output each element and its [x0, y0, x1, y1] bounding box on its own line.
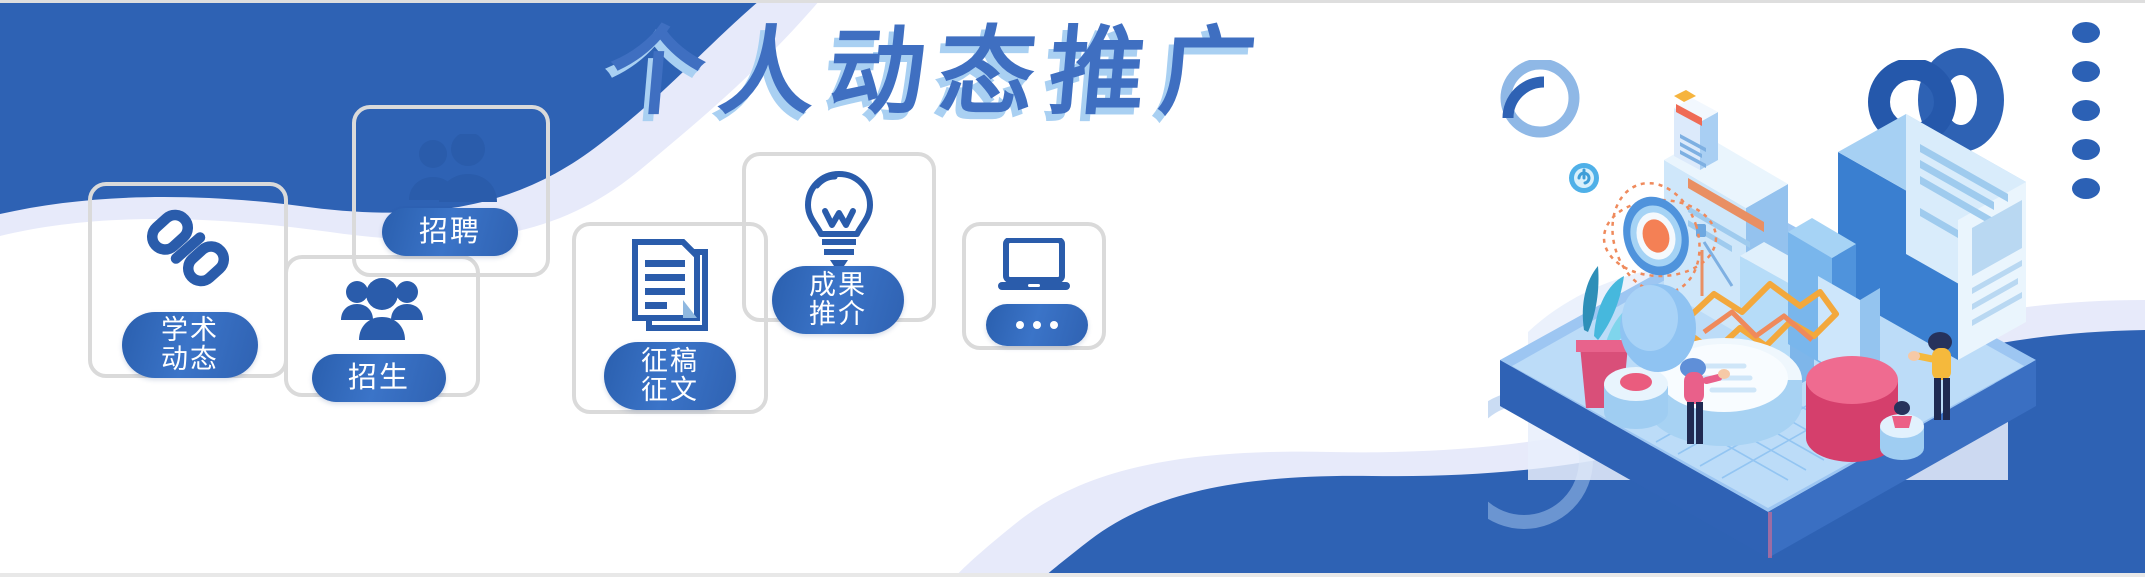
link-icon [88, 200, 288, 296]
two-users-icon [352, 134, 550, 206]
user-group-icon [284, 272, 480, 344]
pill-results-line2: 推介 [809, 300, 867, 329]
pill-more[interactable] [986, 304, 1088, 346]
pill-cfp[interactable]: 征稿 征文 [604, 342, 736, 410]
pill-recruit[interactable]: 招聘 [382, 208, 518, 256]
ellipsis-icon [1016, 321, 1058, 329]
dot-column [2072, 22, 2100, 217]
dot [2072, 100, 2100, 121]
pill-academic[interactable]: 学术 动态 [122, 312, 258, 378]
pill-academic-line2: 动态 [161, 345, 219, 374]
bottom-divider [0, 573, 2145, 577]
pill-enroll[interactable]: 招生 [312, 354, 446, 402]
pill-enroll-label: 招生 [348, 362, 410, 393]
pill-recruit-label: 招聘 [419, 216, 481, 247]
documents-icon [572, 238, 768, 336]
page-title: 个人动态推广 [555, 8, 1325, 118]
pill-results[interactable]: 成果 推介 [772, 266, 904, 334]
dot [2072, 139, 2100, 160]
pill-cfp-line1: 征稿 [641, 347, 699, 376]
pill-cfp-line2: 征文 [641, 376, 699, 405]
dot [2072, 178, 2100, 199]
pill-results-line1: 成果 [809, 271, 867, 300]
laptop-icon [962, 238, 1106, 296]
dot [2072, 22, 2100, 43]
pill-academic-line1: 学术 [161, 316, 219, 345]
banner-root: 个人动态推广 学术 动态 招聘 [0, 0, 2145, 577]
dot [2072, 61, 2100, 82]
isometric-illustration [1488, 60, 2048, 560]
lightbulb-icon [742, 168, 936, 268]
